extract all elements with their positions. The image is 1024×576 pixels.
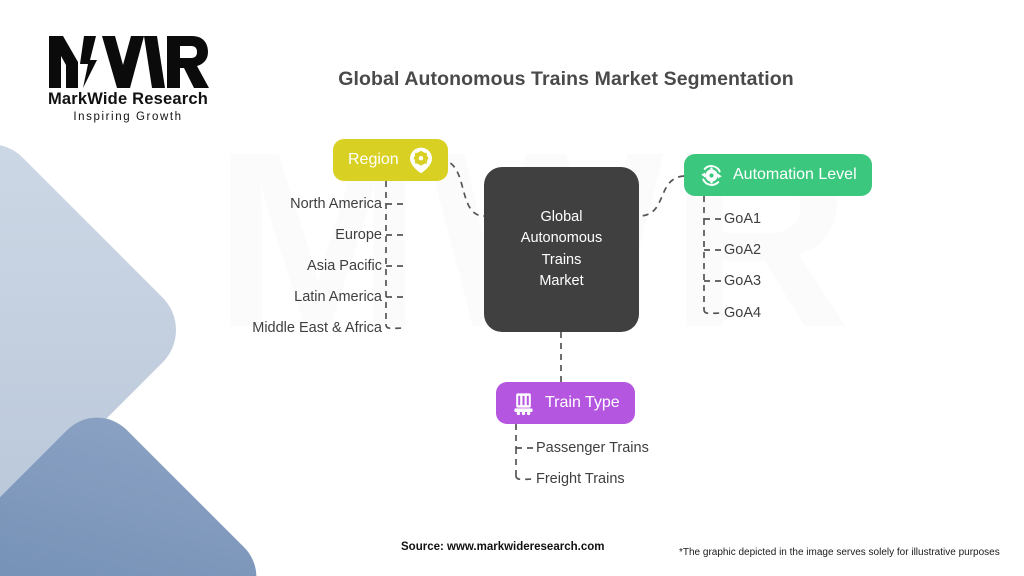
leaf-automation-goa2[interactable]: GoA2 — [724, 242, 761, 258]
automation-gear-icon — [699, 163, 724, 188]
map-pin-gear-icon — [409, 147, 433, 173]
branch-badge-region[interactable]: Region — [333, 139, 448, 181]
leaf-region-north-america[interactable]: North America — [166, 196, 382, 212]
core-node-label: Global Autonomous Trains Market — [521, 207, 602, 291]
leaf-automation-goa1[interactable]: GoA1 — [724, 211, 761, 227]
infographic-canvas: MWR MarkWide Research Inspiring Growth G… — [0, 0, 1024, 576]
stub-region-5 — [386, 325, 404, 328]
branch-label-train-type: Train Type — [545, 394, 620, 412]
leaf-traintype-freight[interactable]: Freight Trains — [536, 471, 625, 487]
connector-automation-to-core — [639, 176, 684, 216]
logo-company-name: MarkWide Research — [28, 90, 228, 109]
branch-badge-automation-level[interactable]: Automation Level — [684, 154, 872, 196]
core-node[interactable]: Global Autonomous Trains Market — [484, 167, 639, 332]
branch-badge-train-type[interactable]: Train Type — [496, 382, 635, 424]
mwr-logo-mark — [47, 32, 209, 89]
stub-automation-4 — [704, 310, 722, 313]
disclaimer-note: *The graphic depicted in the image serve… — [679, 547, 1000, 558]
leaf-region-middle-east-africa[interactable]: Middle East & Africa — [166, 320, 382, 336]
leaf-region-latin-america[interactable]: Latin America — [166, 289, 382, 305]
logo-tagline: Inspiring Growth — [28, 111, 228, 123]
leaf-traintype-passenger[interactable]: Passenger Trains — [536, 440, 649, 456]
leaf-automation-goa4[interactable]: GoA4 — [724, 305, 761, 321]
leaf-region-europe[interactable]: Europe — [166, 227, 382, 243]
leaf-region-asia-pacific[interactable]: Asia Pacific — [166, 258, 382, 274]
branch-label-automation-level: Automation Level — [733, 166, 857, 184]
branch-label-region: Region — [348, 151, 399, 169]
brand-logo: MarkWide Research Inspiring Growth — [28, 32, 228, 123]
page-title: Global Autonomous Trains Market Segmenta… — [256, 68, 876, 91]
leaf-automation-goa3[interactable]: GoA3 — [724, 273, 761, 289]
stub-traintype-2 — [516, 476, 534, 479]
source-credit[interactable]: Source: www.markwideresearch.com — [401, 541, 604, 553]
decorative-square-dark — [0, 400, 274, 576]
train-icon — [511, 391, 536, 416]
